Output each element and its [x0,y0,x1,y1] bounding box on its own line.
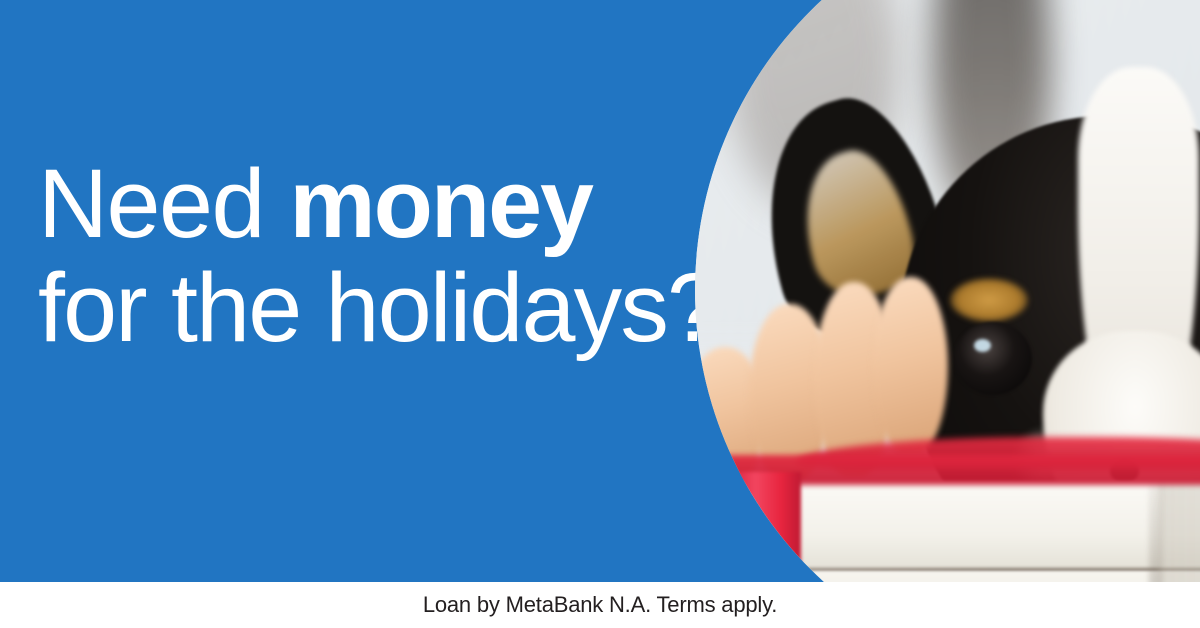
legal-disclaimer: Loan by MetaBank N.A. Terms apply. [423,594,777,616]
gift-box [695,480,1200,582]
gift-box-corner [1149,480,1162,582]
holiday-loan-banner-ad: Need money for the holidays? [0,0,1200,628]
banner-stage: Need money for the holidays? [0,0,1200,582]
gift-box-side-shading [1159,480,1200,582]
finger-4 [873,277,948,454]
hero-photo-inner [695,0,1200,582]
headline-line-1: Need money [38,152,719,256]
headline-line-2: for the holidays? [38,256,719,360]
hero-photo [695,0,1200,582]
ribbon-vertical-left [728,472,801,582]
headline-line-1-regular: Need [38,149,289,258]
footer-bar: Loan by MetaBank N.A. Terms apply. [0,582,1200,628]
puppy-eye-left [954,322,1032,395]
puppy-eye-left-glint [974,339,991,352]
page-title: Need money for the holidays? [38,152,719,360]
puppy-eyebrow-left [950,278,1028,322]
headline-line-1-bold: money [289,149,592,258]
